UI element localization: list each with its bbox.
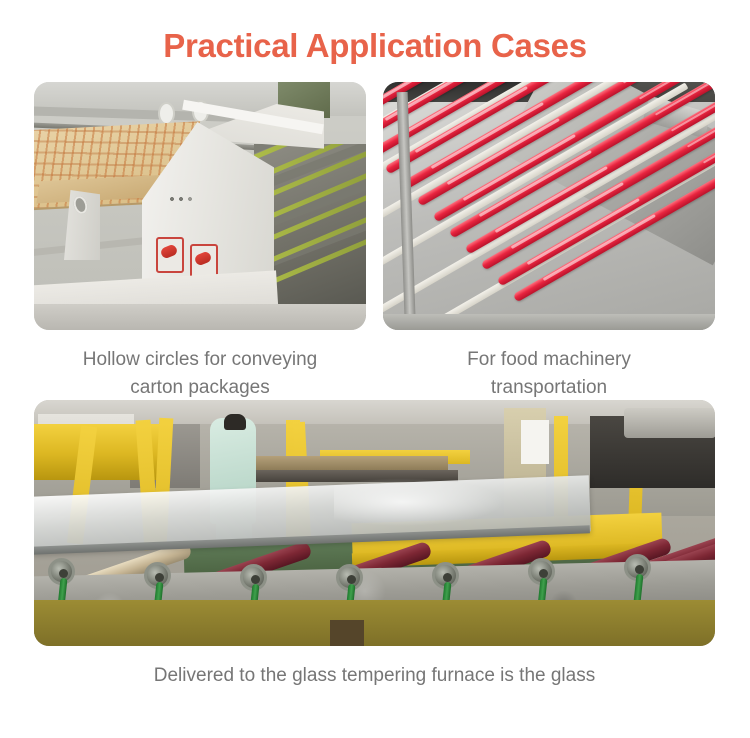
caption-line: Hollow circles for conveying	[34, 346, 366, 374]
caption-line: transportation	[383, 374, 715, 402]
page-title: Practical Application Cases	[0, 24, 750, 68]
application-cases-page: Practical Application Cases	[0, 0, 750, 738]
cases-row-bottom: Delivered to the glass tempering furnace…	[0, 400, 750, 650]
case-image-carton	[34, 82, 366, 330]
case-image-food	[383, 82, 715, 330]
red-control-knob	[156, 237, 184, 273]
caption-line: carton packages	[34, 374, 366, 402]
case-caption-food: For food machinery transportation	[383, 346, 715, 402]
cases-grid: Hollow circles for conveying carton pack…	[0, 82, 750, 650]
case-caption-glass: Delivered to the glass tempering furnace…	[34, 662, 715, 690]
case-card-carton[interactable]: Hollow circles for conveying carton pack…	[34, 82, 366, 402]
case-caption-carton: Hollow circles for conveying carton pack…	[34, 346, 366, 402]
case-card-food[interactable]: For food machinery transportation	[383, 82, 715, 402]
caption-line: For food machinery	[383, 346, 715, 374]
case-image-glass	[34, 400, 715, 646]
caption-line: Delivered to the glass tempering furnace…	[34, 662, 715, 690]
cases-row-top: Hollow circles for conveying carton pack…	[0, 82, 750, 400]
case-card-glass[interactable]: Delivered to the glass tempering furnace…	[34, 400, 715, 690]
